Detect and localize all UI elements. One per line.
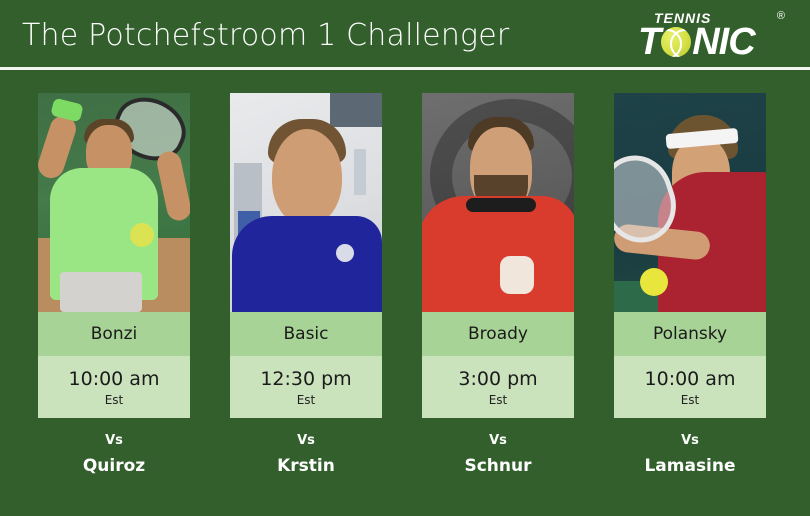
logo-wordmark-main: T NIC bbox=[638, 24, 755, 60]
opponent-block: Vs Schnur bbox=[422, 418, 574, 478]
player-photo-broady bbox=[422, 93, 574, 312]
match-card[interactable]: Basic 12:30 pm Est Vs Krstin bbox=[230, 93, 382, 478]
match-timezone: Est bbox=[105, 392, 124, 408]
player-name-band: Bonzi bbox=[38, 312, 190, 356]
match-card-list: Bonzi 10:00 am Est Vs Quiroz bbox=[0, 78, 810, 498]
player-name: Broady bbox=[468, 324, 528, 344]
match-timezone: Est bbox=[681, 392, 700, 408]
registered-trademark-icon: ® bbox=[777, 10, 785, 22]
match-time: 12:30 pm bbox=[260, 367, 351, 391]
match-card[interactable]: Broady 3:00 pm Est Vs Schnur bbox=[422, 93, 574, 478]
player-name: Basic bbox=[283, 324, 328, 344]
opponent-block: Vs Krstin bbox=[230, 418, 382, 478]
match-time: 10:00 am bbox=[69, 367, 160, 391]
opponent-name: Lamasine bbox=[614, 454, 766, 478]
player-photo-basic bbox=[230, 93, 382, 312]
match-card[interactable]: Polansky 10:00 am Est Vs Lamasine bbox=[614, 93, 766, 478]
opponent-block: Vs Quiroz bbox=[38, 418, 190, 478]
player-name: Bonzi bbox=[91, 324, 137, 344]
tennis-tonic-logo: TENNIS ® T NIC bbox=[638, 8, 788, 62]
match-time-band: 3:00 pm Est bbox=[422, 356, 574, 418]
logo-letter-t: T bbox=[638, 24, 660, 60]
match-time: 10:00 am bbox=[645, 367, 736, 391]
logo-letters-nic: NIC bbox=[692, 24, 754, 60]
opponent-name: Schnur bbox=[422, 454, 574, 478]
player-name-band: Basic bbox=[230, 312, 382, 356]
vs-label: Vs bbox=[422, 432, 574, 450]
match-time: 3:00 pm bbox=[458, 367, 537, 391]
opponent-name: Quiroz bbox=[38, 454, 190, 478]
match-time-band: 12:30 pm Est bbox=[230, 356, 382, 418]
match-timezone: Est bbox=[489, 392, 508, 408]
player-photo-polansky bbox=[614, 93, 766, 312]
tennis-ball-icon bbox=[661, 27, 691, 57]
player-name-band: Broady bbox=[422, 312, 574, 356]
player-photo-bonzi bbox=[38, 93, 190, 312]
player-name: Polansky bbox=[653, 324, 727, 344]
header-divider bbox=[0, 67, 810, 70]
match-time-band: 10:00 am Est bbox=[38, 356, 190, 418]
vs-label: Vs bbox=[230, 432, 382, 450]
match-timezone: Est bbox=[297, 392, 316, 408]
page-title: The Potchefstroom 1 Challenger bbox=[22, 18, 509, 53]
player-name-band: Polansky bbox=[614, 312, 766, 356]
opponent-name: Krstin bbox=[230, 454, 382, 478]
tournament-schedule-graphic: The Potchefstroom 1 Challenger TENNIS ® … bbox=[0, 0, 810, 516]
opponent-block: Vs Lamasine bbox=[614, 418, 766, 478]
match-card[interactable]: Bonzi 10:00 am Est Vs Quiroz bbox=[38, 93, 190, 478]
match-time-band: 10:00 am Est bbox=[614, 356, 766, 418]
vs-label: Vs bbox=[614, 432, 766, 450]
header-bar: The Potchefstroom 1 Challenger TENNIS ® … bbox=[0, 0, 810, 68]
vs-label: Vs bbox=[38, 432, 190, 450]
